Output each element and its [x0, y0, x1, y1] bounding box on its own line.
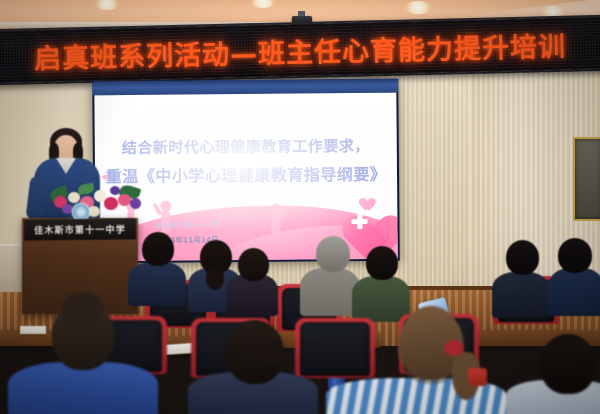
red-cup	[468, 368, 487, 386]
podium-sign-text: 佳木斯市第十一中学	[34, 223, 126, 237]
presentation-slide: 结合新时代心理健康教育工作要求， 重温《中小学心理健康教育指导纲要》 佳木斯市第…	[94, 93, 397, 262]
auditorium-photo: 启真班系列活动—班主任心育能力提升培训 结合新时代心理健康教育工作要求， 重温《…	[0, 0, 600, 414]
paper-sheet	[20, 326, 46, 334]
wall-frame-panel	[573, 137, 600, 221]
recessed-downlight	[404, 1, 432, 14]
led-banner-text: 启真班系列活动—班主任心育能力提升培训	[34, 24, 567, 76]
child-silhouette-head	[160, 201, 171, 212]
flower-arrangement	[48, 182, 144, 222]
small-heart-icon	[355, 193, 371, 207]
recessed-downlight	[250, 0, 276, 8]
auditorium-seat	[300, 322, 370, 376]
medical-cross-icon	[351, 213, 367, 229]
recessed-downlight	[94, 0, 120, 10]
podium-sign: 佳木斯市第十一中学	[24, 218, 136, 240]
projection-screen: 结合新时代心理健康教育工作要求， 重温《中小学心理健康教育指导纲要》 佳木斯市第…	[92, 79, 400, 264]
slide-headline-line1: 结合新时代心理健康教育工作要求，	[95, 135, 397, 159]
